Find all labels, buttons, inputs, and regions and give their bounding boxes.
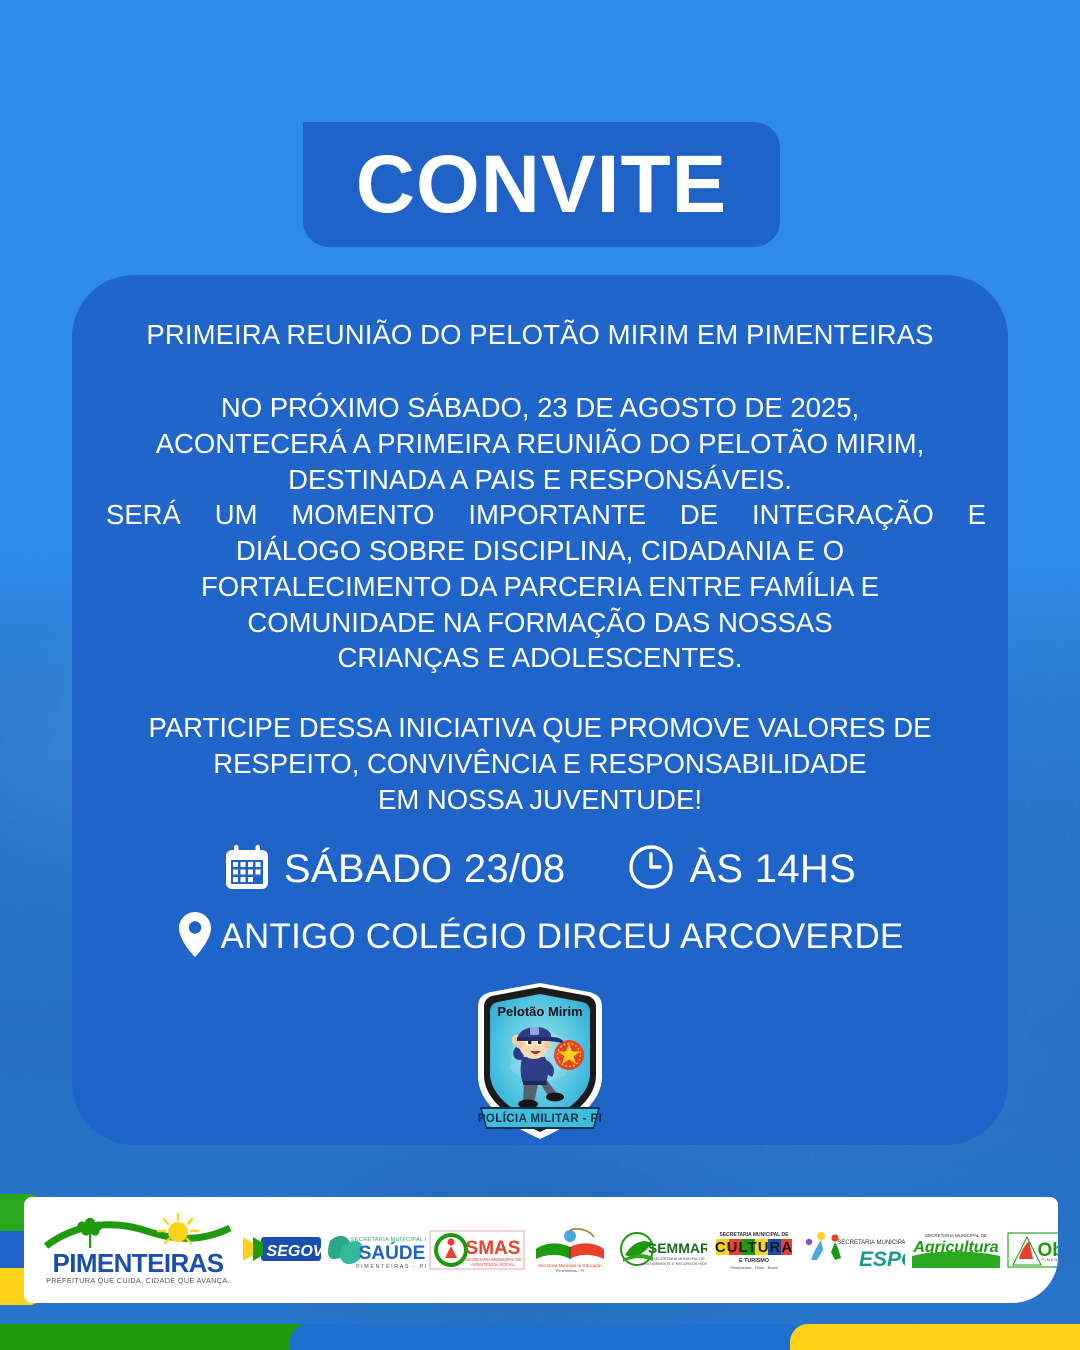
saude-sub2: PIMENTEIRAS - PI [356, 1264, 426, 1270]
spacer-1 [106, 352, 974, 390]
agricultura-logo: SECRETARIA MUNICIPAL DE Agricultura [908, 1228, 1004, 1272]
paragraph-purpose-line-1: SERÁ UM MOMENTO IMPORTANTE DE INTEGRAÇÃO… [106, 497, 986, 533]
paragraph-when-line-3: DESTINADA A PAIS E RESPONSÁVEIS. [106, 462, 974, 498]
esporte-label: ESPORTE [859, 1248, 905, 1271]
footer-logo-bar: PIMENTEIRAS PREFEITURA QUE CUIDA, CIDADE… [24, 1197, 1058, 1303]
cultura-logo: SECRETARIA MUNICIPAL DE CULTURA E TURISM… [710, 1226, 798, 1274]
event-location-text: ANTIGO COLÉGIO DIRCEU ARCOVERDE [221, 917, 904, 957]
paragraph-cta-line-2: RESPEITO, CONVIVÊNCIA E RESPONSABILIDADE [106, 746, 974, 782]
semmar-logo: SEMMAR SECRETARIA MUNICIPAL DE MEIO AMBI… [615, 1229, 707, 1271]
spacer-2 [106, 676, 974, 710]
saude-logo: SECRETARIA MUNICIPAL DE SAÚDE PIMENTEIRA… [326, 1227, 426, 1273]
clock-icon [627, 843, 675, 896]
cultura-label: CULTURA [715, 1239, 793, 1256]
bottom-stripe-green [0, 1324, 310, 1350]
convite-banner: CONVITE [303, 122, 780, 247]
paragraph-purpose-line-5: CRIANÇAS E ADOLESCENTES. [106, 640, 974, 676]
headline: PRIMEIRA REUNIÃO DO PELOTÃO MIRIM EM PIM… [106, 317, 974, 352]
paragraph-when: NO PRÓXIMO SÁBADO, 23 DE AGOSTO DE 2025,… [106, 390, 974, 497]
paragraph-call-to-action: PARTICIPE DESSA INICIATIVA QUE PROMOVE V… [106, 710, 974, 817]
map-pin-icon [177, 910, 213, 963]
event-time: ÀS 14HS [627, 843, 856, 896]
badge-top-text: Pelotão Mirim [497, 1004, 582, 1019]
saude-label: SAÚDE [359, 1242, 426, 1264]
pimenteiras-tagline: PREFEITURA QUE CUIDA, CIDADE QUE AVANÇA. [46, 1276, 230, 1285]
tree-icon [77, 1218, 102, 1248]
paragraph-purpose-line-3: FORTALECIMENTO DA PARCERIA ENTRE FAMÍLIA… [106, 569, 974, 605]
svg-text:ASSISTÊNCIA SOCIAL: ASSISTÊNCIA SOCIAL [471, 1262, 516, 1267]
cultura-sub2: E TURISMO [739, 1258, 769, 1264]
event-date-text: SÁBADO 23/08 [284, 847, 566, 892]
educacao-logo: Secretaria Municipal de Educação Pimente… [528, 1227, 612, 1273]
svg-text:Pimenteiras - Piauí - Brasil: Pimenteiras - Piauí - Brasil [730, 1265, 777, 1270]
badge-ribbon-text: POLÍCIA MILITAR - PI [478, 1112, 602, 1125]
paragraph-purpose: SERÁ UM MOMENTO IMPORTANTE DE INTEGRAÇÃO… [106, 497, 974, 676]
semmar-label: SEMMAR [648, 1240, 707, 1256]
pimenteiras-logo: PIMENTEIRAS PREFEITURA QUE CUIDA, CIDADE… [38, 1210, 238, 1290]
agricultura-sub: SECRETARIA MUNICIPAL DE [925, 1233, 987, 1238]
segov-logo: SEGOV [241, 1233, 323, 1267]
segov-label: SEGOV [267, 1243, 323, 1260]
bottom-stripe-blue [290, 1324, 810, 1350]
invitation-card-content: PRIMEIRA REUNIÃO DO PELOTÃO MIRIM EM PIM… [72, 275, 1008, 1145]
paragraph-when-line-1: NO PRÓXIMO SÁBADO, 23 DE AGOSTO DE 2025, [106, 390, 974, 426]
esporte-sub: SECRETARIA MUNICIPAL [837, 1240, 905, 1246]
calendar-icon [224, 843, 270, 896]
bottom-stripes [0, 1324, 1080, 1350]
svg-text:SECRETARIA MUNICIPAL DE: SECRETARIA MUNICIPAL DE [653, 1257, 705, 1261]
paragraph-purpose-line-4: COMUNIDADE NA FORMAÇÃO DAS NOSSAS [106, 605, 974, 641]
smas-label: SMAS [466, 1238, 521, 1259]
paragraph-cta-line-3: EM NOSSA JUVENTUDE! [106, 782, 974, 818]
event-details-row: SÁBADO 23/08 ÀS 14HS [106, 843, 974, 896]
svg-text:Pimenteiras - PI: Pimenteiras - PI [556, 1268, 584, 1273]
event-time-text: ÀS 14HS [689, 847, 856, 892]
paragraph-purpose-line-2: DIÁLOGO SOBRE DISCIPLINA, CIDADANIA E O [106, 533, 974, 569]
event-date: SÁBADO 23/08 [224, 843, 566, 896]
obras-sub: PIMENTEIRAS - PI [1041, 1257, 1058, 1262]
paragraph-when-line-2: ACONTECERÁ A PRIMEIRA REUNIÃO DO PELOTÃO… [106, 426, 974, 462]
convite-title: CONVITE [356, 144, 727, 226]
pelotao-mirim-badge: Pelotão Mirim [106, 983, 974, 1141]
smas-logo: SMAS SECRETARIA MUNICIPAL DE ASSISTÊNCIA… [429, 1227, 525, 1273]
paragraph-cta-line-1: PARTICIPE DESSA INICIATIVA QUE PROMOVE V… [106, 710, 974, 746]
obras-logo: Obras PIMENTEIRAS - PI [1007, 1229, 1058, 1271]
event-location-row: ANTIGO COLÉGIO DIRCEU ARCOVERDE [106, 910, 974, 963]
pimenteiras-label: PIMENTEIRAS [52, 1248, 223, 1278]
esporte-logo: SECRETARIA MUNICIPAL ESPORTE [801, 1228, 905, 1272]
bottom-stripe-yellow [790, 1324, 1080, 1350]
svg-text:MEIO AMBIENTE E RECURSOS HÍDRI: MEIO AMBIENTE E RECURSOS HÍDRICOS [641, 1262, 707, 1266]
cultura-sub: SECRETARIA MUNICIPAL DE [720, 1232, 790, 1238]
